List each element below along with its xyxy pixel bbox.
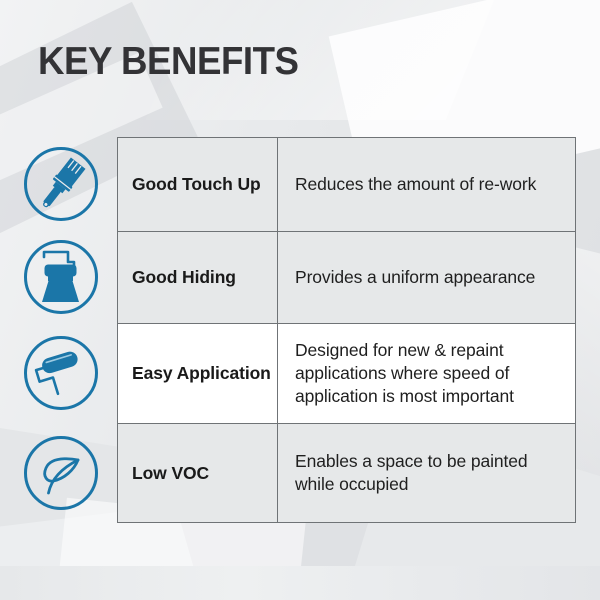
table-row: Easy Application Designed for new & repa…	[118, 324, 575, 424]
table-row: Good Touch Up Reduces the amount of re-w…	[118, 138, 575, 232]
benefit-title: Easy Application	[132, 363, 271, 384]
benefit-title: Good Touch Up	[132, 174, 261, 195]
benefit-title-cell: Good Touch Up	[118, 138, 278, 231]
table-row: Low VOC Enables a space to be painted wh…	[118, 424, 575, 522]
page-title: KEY BENEFITS	[38, 40, 299, 84]
benefit-description: Provides a uniform appearance	[295, 266, 535, 289]
benefit-description: Reduces the amount of re-work	[295, 173, 536, 196]
benefit-description-cell: Enables a space to be painted while occu…	[278, 424, 575, 522]
paint-brush-icon	[22, 145, 100, 223]
benefit-icon-column	[18, 137, 104, 523]
benefit-title-cell: Low VOC	[118, 424, 278, 522]
benefit-icon-1	[18, 231, 104, 323]
background-bottom-strip	[0, 566, 600, 600]
benefit-title-cell: Easy Application	[118, 324, 278, 423]
benefit-description-cell: Designed for new & repaint applications …	[278, 324, 575, 423]
benefit-description: Enables a space to be painted while occu…	[295, 450, 563, 496]
benefit-title-cell: Good Hiding	[118, 232, 278, 323]
benefit-icon-3	[18, 423, 104, 523]
leaf-icon	[22, 434, 100, 512]
benefit-icon-0	[18, 137, 104, 231]
benefit-title: Low VOC	[132, 463, 209, 484]
benefit-description: Designed for new & repaint applications …	[295, 339, 563, 408]
benefit-description-cell: Reduces the amount of re-work	[278, 138, 575, 231]
paint-roller-front-icon	[22, 238, 100, 316]
table-row: Good Hiding Provides a uniform appearanc…	[118, 232, 575, 324]
benefit-icon-2	[18, 323, 104, 423]
benefits-table: Good Touch Up Reduces the amount of re-w…	[117, 137, 576, 523]
infographic-canvas: KEY BENEFITS	[0, 0, 600, 600]
paint-roller-side-icon	[22, 334, 100, 412]
benefit-title: Good Hiding	[132, 267, 236, 288]
benefit-description-cell: Provides a uniform appearance	[278, 232, 575, 323]
